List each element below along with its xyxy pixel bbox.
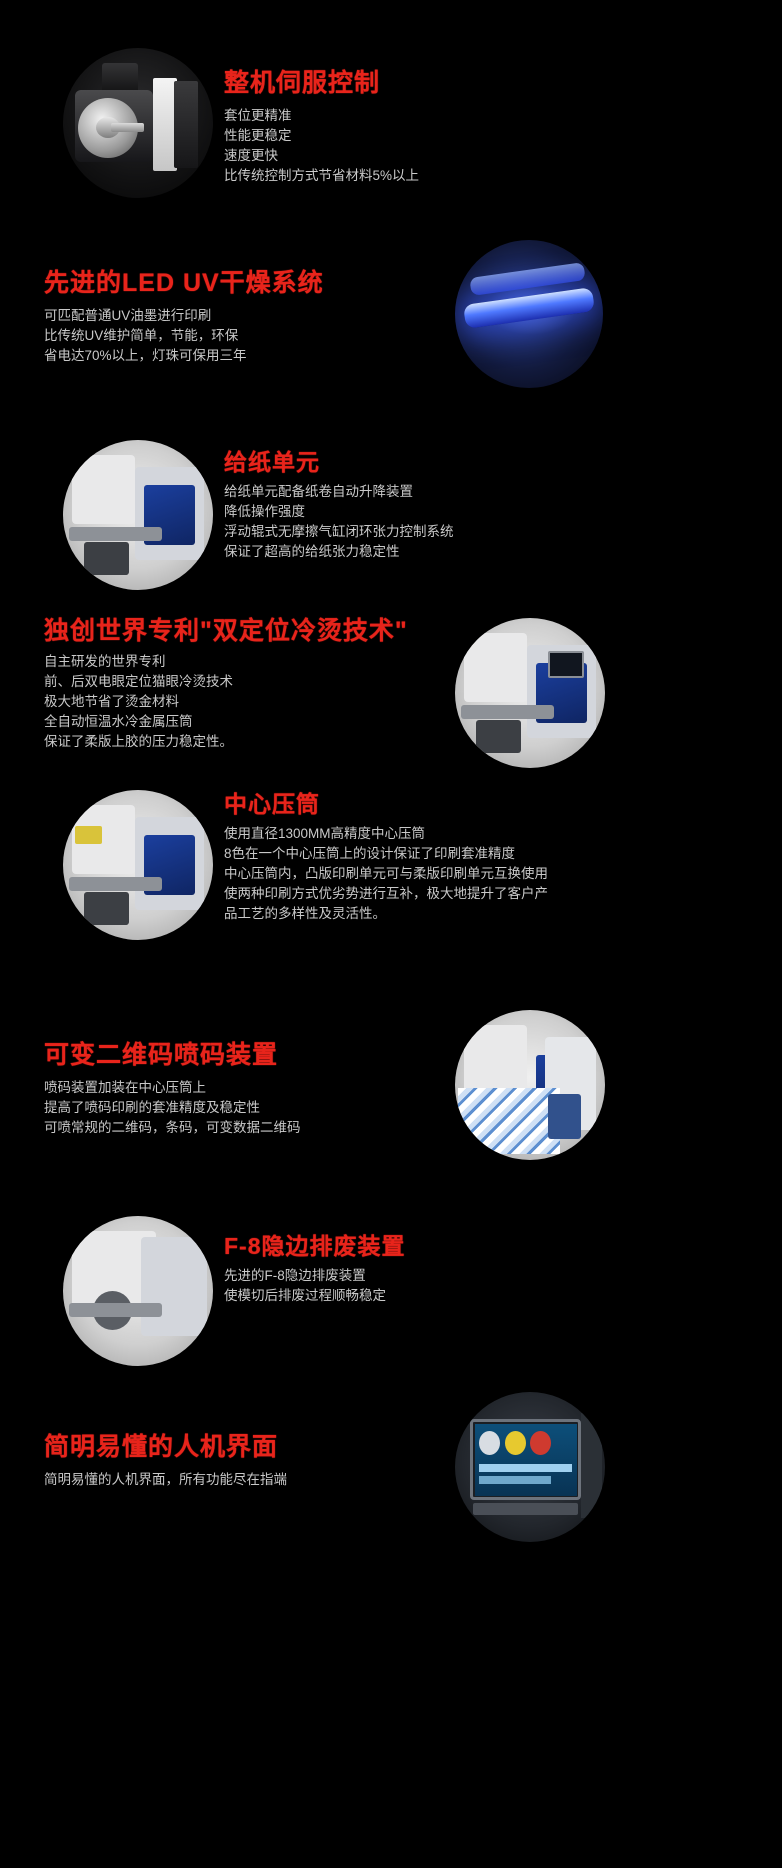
led-uv-lamp-photo bbox=[455, 240, 603, 388]
feature-line: 浮动辊式无摩擦气缸闭环张力控制系统 bbox=[224, 522, 454, 542]
feature-line: 品工艺的多样性及灵活性。 bbox=[224, 904, 548, 924]
feature-line: 降低操作强度 bbox=[224, 502, 454, 522]
feature-line: 8色在一个中心压筒上的设计保证了印刷套准精度 bbox=[224, 844, 548, 864]
section-title: 给纸单元 bbox=[224, 448, 454, 476]
waste-removal-unit-photo bbox=[63, 1216, 213, 1366]
cold-foil-unit-photo bbox=[455, 618, 605, 768]
feature-line: 比传统UV维护简单，节能，环保 bbox=[44, 326, 324, 346]
feature-line: 比传统控制方式节省材料5%以上 bbox=[224, 166, 419, 186]
inkjet-coder-photo bbox=[455, 1010, 605, 1160]
feature-line: 可喷常规的二维码，条码，可变数据二维码 bbox=[44, 1118, 301, 1138]
section-title: F-8隐边排废装置 bbox=[224, 1232, 406, 1260]
inkjet-coder-text: 可变二维码喷码装置 喷码装置加装在中心压筒上 提高了喷码印刷的套准精度及稳定性 … bbox=[44, 1040, 301, 1138]
feature-line: 使用直径1300MM高精度中心压筒 bbox=[224, 824, 548, 844]
feature-line: 给纸单元配备纸卷自动升降装置 bbox=[224, 482, 454, 502]
feature-line: 使模切后排废过程顺畅稳定 bbox=[224, 1286, 406, 1306]
feature-line: 保证了柔版上胶的压力稳定性。 bbox=[44, 732, 408, 752]
servo-control-text: 整机伺服控制 套位更精准 性能更稳定 速度更快 比传统控制方式节省材料5%以上 bbox=[224, 68, 419, 186]
section-title: 中心压筒 bbox=[224, 790, 548, 818]
feature-line: 喷码装置加装在中心压筒上 bbox=[44, 1078, 301, 1098]
feature-line: 先进的F-8隐边排废装置 bbox=[224, 1266, 406, 1286]
feature-line: 使两种印刷方式优劣势进行互补，极大地提升了客户产 bbox=[224, 884, 548, 904]
feature-line: 套位更精准 bbox=[224, 106, 419, 126]
cold-foil-text: 独创世界专利"双定位冷烫技术" 自主研发的世界专利 前、后双电眼定位猫眼冷烫技术… bbox=[44, 616, 408, 752]
product-feature-page: 整机伺服控制 套位更精准 性能更稳定 速度更快 比传统控制方式节省材料5%以上 … bbox=[0, 0, 782, 1868]
section-title: 整机伺服控制 bbox=[224, 68, 419, 98]
feature-line: 简明易懂的人机界面，所有功能尽在指端 bbox=[44, 1470, 287, 1490]
section-title: 先进的LED UV干燥系统 bbox=[44, 268, 324, 298]
central-drum-photo bbox=[63, 790, 213, 940]
feature-line: 速度更快 bbox=[224, 146, 419, 166]
feature-line: 全自动恒温水冷金属压筒 bbox=[44, 712, 408, 732]
hmi-text: 简明易懂的人机界面 简明易懂的人机界面，所有功能尽在指端 bbox=[44, 1432, 287, 1490]
feature-line: 保证了超高的给纸张力稳定性 bbox=[224, 542, 454, 562]
waste-removal-text: F-8隐边排废装置 先进的F-8隐边排废装置 使模切后排废过程顺畅稳定 bbox=[224, 1232, 406, 1306]
section-title: 独创世界专利"双定位冷烫技术" bbox=[44, 616, 408, 646]
section-title: 可变二维码喷码装置 bbox=[44, 1040, 301, 1070]
feature-line: 自主研发的世界专利 bbox=[44, 652, 408, 672]
feature-line: 极大地节省了烫金材料 bbox=[44, 692, 408, 712]
feature-line: 提高了喷码印刷的套准精度及稳定性 bbox=[44, 1098, 301, 1118]
section-title: 简明易懂的人机界面 bbox=[44, 1432, 287, 1462]
led-uv-text: 先进的LED UV干燥系统 可匹配普通UV油墨进行印刷 比传统UV维护简单，节能… bbox=[44, 268, 324, 366]
servo-motor-photo bbox=[63, 48, 213, 198]
feature-line: 省电达70%以上，灯珠可保用三年 bbox=[44, 346, 324, 366]
central-drum-text: 中心压筒 使用直径1300MM高精度中心压筒 8色在一个中心压筒上的设计保证了印… bbox=[224, 790, 548, 924]
feature-line: 可匹配普通UV油墨进行印刷 bbox=[44, 306, 324, 326]
feature-line: 中心压筒内，凸版印刷单元可与柔版印刷单元互换使用 bbox=[224, 864, 548, 884]
hmi-touch-panel-photo bbox=[455, 1392, 605, 1542]
feature-line: 性能更稳定 bbox=[224, 126, 419, 146]
paper-feed-unit-photo bbox=[63, 440, 213, 590]
paper-feed-text: 给纸单元 给纸单元配备纸卷自动升降装置 降低操作强度 浮动辊式无摩擦气缸闭环张力… bbox=[224, 448, 454, 562]
feature-line: 前、后双电眼定位猫眼冷烫技术 bbox=[44, 672, 408, 692]
